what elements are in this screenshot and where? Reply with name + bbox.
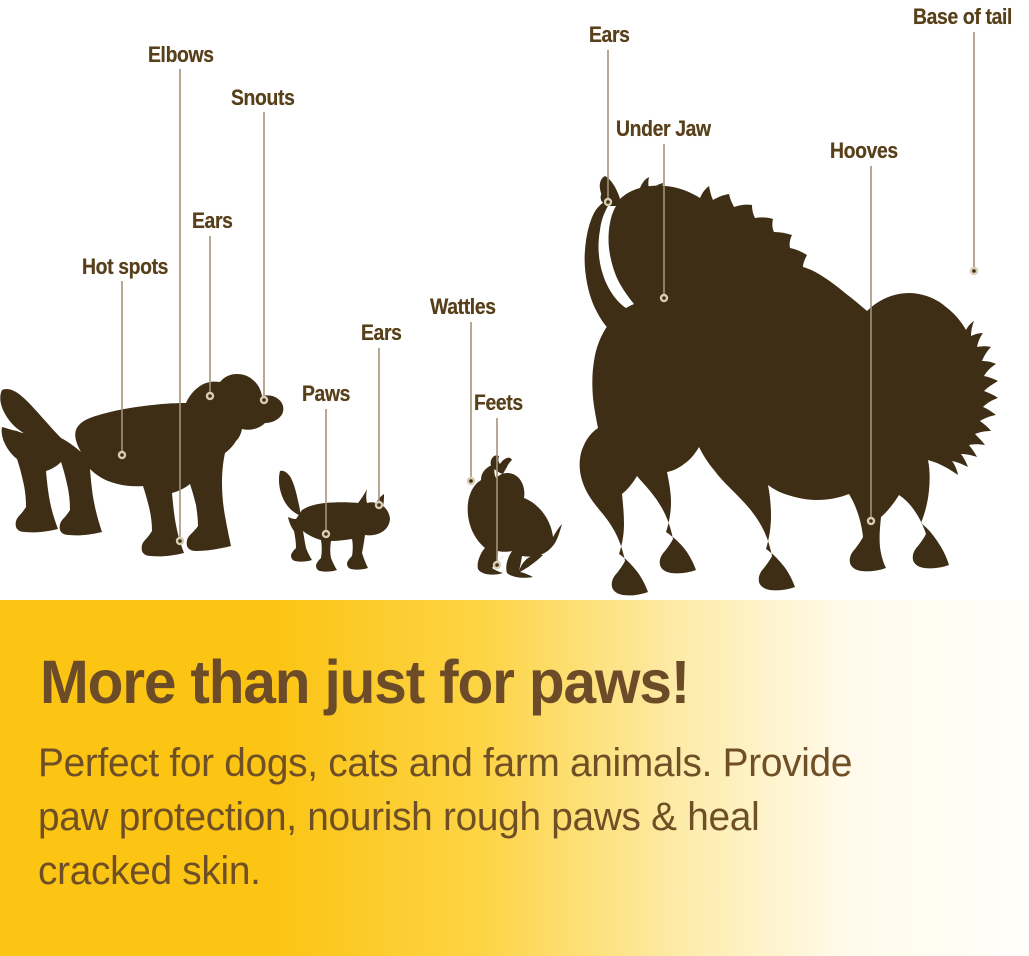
callout-marker-core-paws	[324, 532, 328, 536]
callout-marker-core-horse-ears	[606, 200, 610, 204]
callout-marker-core-snouts	[262, 398, 266, 402]
promo-body-line-2: paw protection, nourish rough paws & hea…	[38, 790, 969, 844]
promo-banner: More than just for paws! Perfect for dog…	[0, 600, 1029, 956]
chicken-silhouette	[468, 455, 562, 577]
animal-callout-diagram: Hot spotsElbowsEarsSnoutsPawsEarsWattles…	[0, 0, 1029, 600]
callout-marker-core-hot-spots	[120, 453, 124, 457]
promo-body-text: Perfect for dogs, cats and farm animals.…	[38, 736, 998, 898]
callout-label-paws: Paws	[302, 383, 350, 405]
callout-label-cat-ears: Ears	[361, 322, 402, 344]
callout-marker-core-dog-ears	[208, 394, 212, 398]
promo-heading: More than just for paws!	[40, 652, 689, 713]
callout-label-elbows: Elbows	[148, 44, 214, 66]
callout-label-base-of-tail: Base of tail	[913, 6, 1012, 28]
promo-body-line-3: cracked skin.	[38, 844, 969, 898]
promo-body-line-1: Perfect for dogs, cats and farm animals.…	[38, 736, 969, 790]
animal-silhouettes-svg	[0, 0, 1029, 600]
callout-label-hot-spots: Hot spots	[82, 256, 168, 278]
callout-marker-core-elbows	[178, 539, 182, 543]
callout-label-snouts: Snouts	[231, 87, 294, 109]
callout-label-dog-ears: Ears	[192, 210, 233, 232]
infographic-root: Hot spotsElbowsEarsSnoutsPawsEarsWattles…	[0, 0, 1029, 956]
cat-silhouette	[279, 471, 390, 572]
horse-silhouette	[580, 176, 998, 595]
callout-marker-core-under-jaw	[662, 296, 666, 300]
callout-label-feets: Feets	[474, 392, 523, 414]
callout-label-hooves: Hooves	[830, 140, 898, 162]
callout-marker-core-hooves	[869, 519, 873, 523]
callout-marker-core-base-of-tail	[972, 269, 976, 273]
callout-label-horse-ears: Ears	[589, 24, 630, 46]
callout-label-wattles: Wattles	[430, 296, 496, 318]
callout-label-under-jaw: Under Jaw	[616, 118, 711, 140]
dog-silhouette	[0, 374, 283, 556]
callout-marker-core-wattles	[469, 479, 473, 483]
callout-marker-core-cat-ears	[377, 503, 381, 507]
callout-marker-core-feets	[495, 563, 499, 567]
